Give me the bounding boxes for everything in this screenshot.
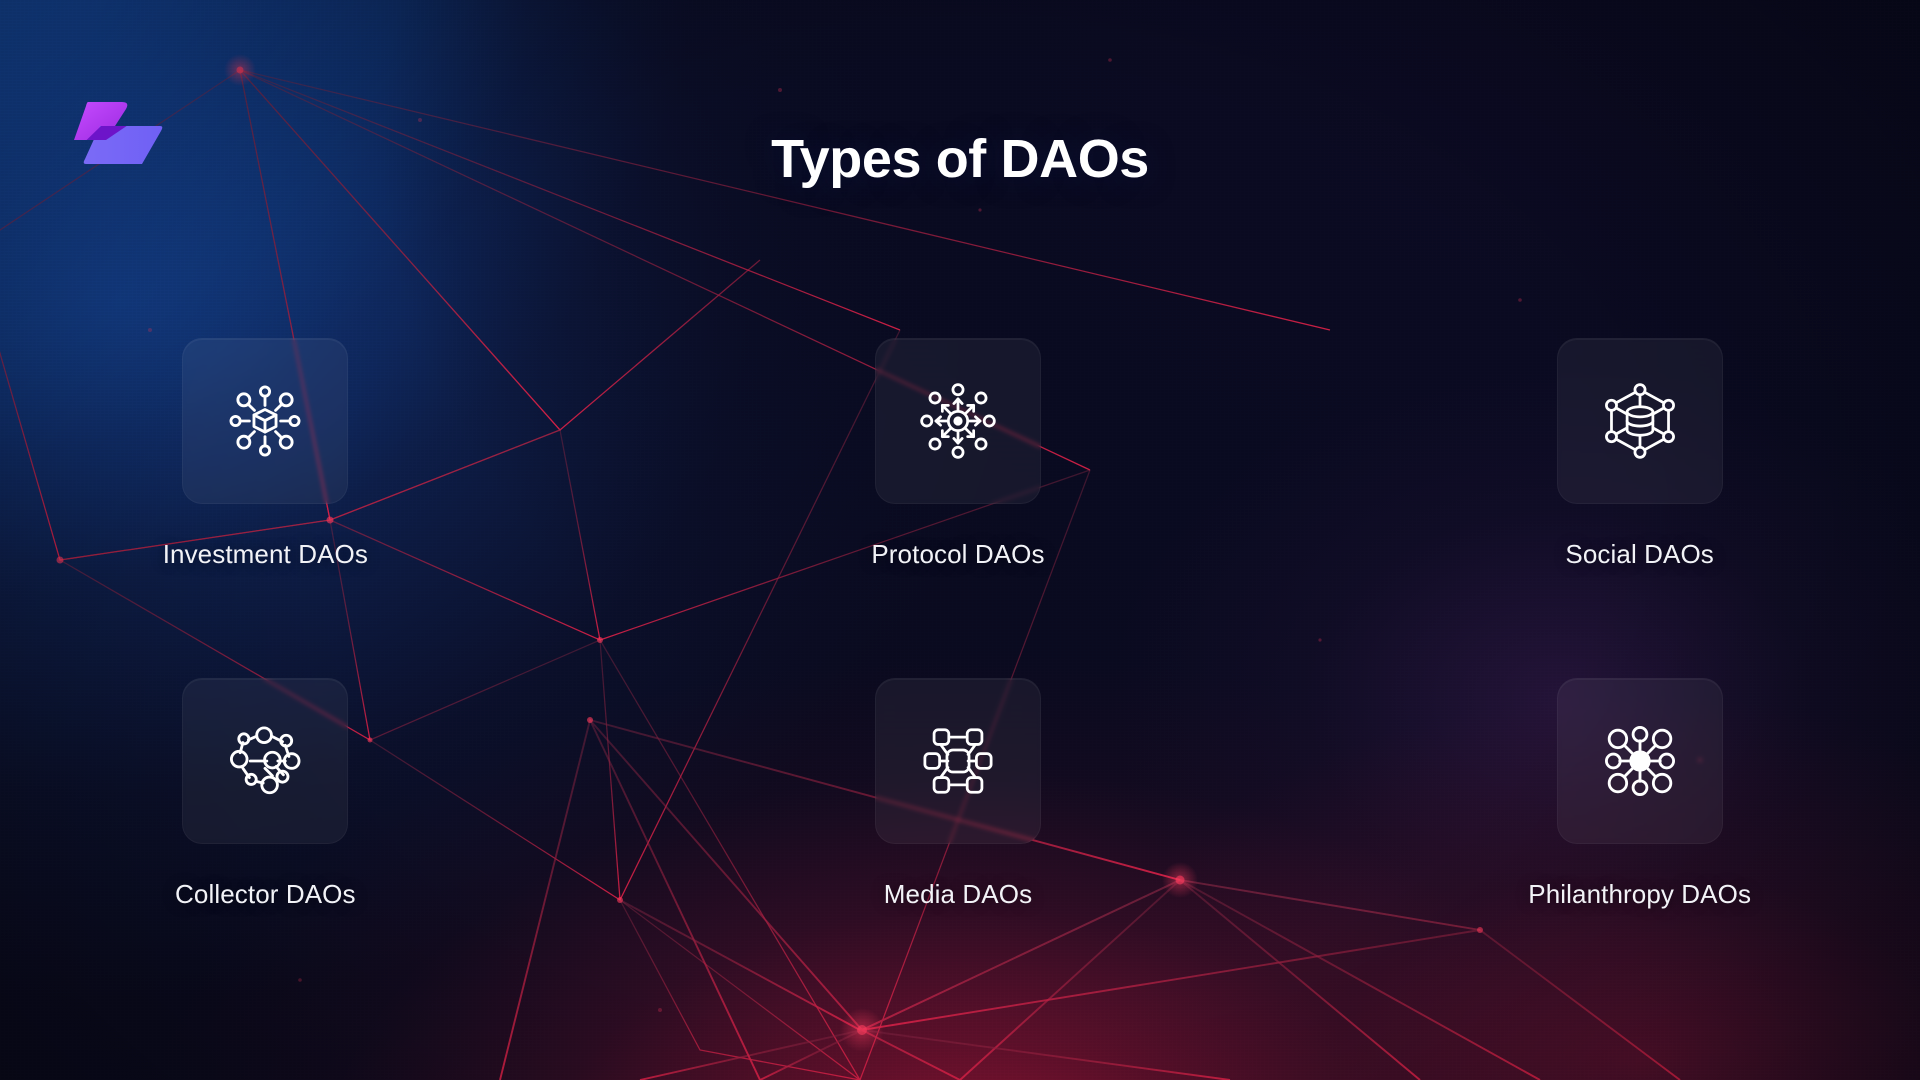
dao-card-media[interactable]: Media DAOs xyxy=(675,678,1246,1018)
dao-card-label: Social DAOs xyxy=(1565,539,1713,570)
dao-card-label: Protocol DAOs xyxy=(871,539,1044,570)
page-title: Types of DAOs xyxy=(0,128,1920,190)
dao-types-grid: Investment DAOs xyxy=(0,338,1920,1018)
icon-tile[interactable] xyxy=(875,678,1041,844)
slide-canvas: Types of DAOs xyxy=(0,0,1920,1080)
dao-card-label: Investment DAOs xyxy=(163,539,368,570)
dao-card-collector[interactable]: Collector DAOs xyxy=(104,678,675,1018)
dao-card-label: Media DAOs xyxy=(884,879,1032,910)
icon-tile[interactable] xyxy=(182,678,348,844)
square-nodes-icon xyxy=(912,715,1004,807)
icon-tile[interactable] xyxy=(1557,338,1723,504)
cube-network-icon xyxy=(219,375,311,467)
radiating-hub-icon xyxy=(912,375,1004,467)
organic-cluster-icon xyxy=(219,715,311,807)
dao-card-investment[interactable]: Investment DAOs xyxy=(104,338,675,678)
hexagon-database-icon xyxy=(1594,375,1686,467)
dao-card-philanthropy[interactable]: Philanthropy DAOs xyxy=(1245,678,1816,1018)
dao-card-label: Collector DAOs xyxy=(175,879,356,910)
icon-tile[interactable] xyxy=(182,338,348,504)
dao-card-label: Philanthropy DAOs xyxy=(1528,879,1751,910)
icon-tile[interactable] xyxy=(1557,678,1723,844)
spoke-circles-icon xyxy=(1594,715,1686,807)
icon-tile[interactable] xyxy=(875,338,1041,504)
dao-card-protocol[interactable]: Protocol DAOs xyxy=(675,338,1246,678)
dao-card-social[interactable]: Social DAOs xyxy=(1245,338,1816,678)
